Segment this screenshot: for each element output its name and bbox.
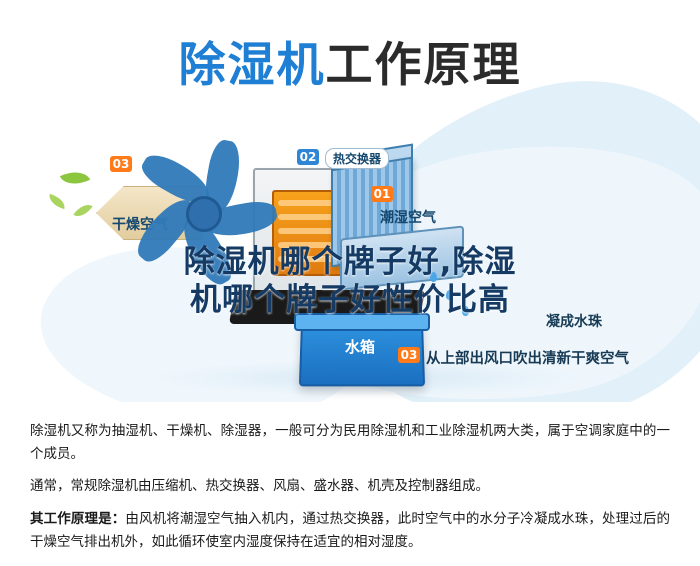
page-title: 除湿机工作原理 [0,26,700,95]
leaf-icon [47,194,67,209]
label-bottom-note: 从上部出风口吹出清新干爽空气 [426,347,629,368]
callout-badge-01: 01 [371,186,393,202]
label-heat-exchanger: 热交换器 [325,148,389,169]
paragraph-1: 除湿机又称为抽湿机、干燥机、除湿器，一般可分为民用除湿机和工业除湿机两大类，属于… [30,420,670,466]
paragraph-3-heading: 其工作原理是： [30,511,125,527]
hero-illustration: 除湿机工作原理 干燥空气 03 02 热交换器 [0,0,700,402]
overlay-line-1: 除湿机哪个牌子好,除湿 [0,244,700,282]
paragraph-3: 其工作原理是：由风机将潮湿空气抽入机内，通过热交换器，此时空气中的水分子冷凝成水… [30,508,670,554]
leaf-icon [73,200,92,221]
callout-badge-03-bottom: 03 [398,347,420,363]
label-humid-air: 潮湿空气 [380,207,436,227]
overlay-line-2: 机哪个牌子好性价比高 [0,282,700,320]
overlay-watermark: 除湿机哪个牌子好,除湿 机哪个牌子好性价比高 [0,244,700,320]
paragraph-3-text: 由风机将潮湿空气抽入机内，通过热交换器，此时空气中的水分子冷凝成水珠，处理过后的… [30,511,670,550]
description-block: 除湿机又称为抽湿机、干燥机、除湿器，一般可分为民用除湿机和工业除湿机两大类，属于… [0,402,700,566]
leaf-icon [60,165,90,190]
fan-hub-icon [186,196,222,232]
title-rest: 工作原理 [326,38,522,93]
page-root: 除湿机工作原理 干燥空气 03 02 热交换器 [0,0,700,566]
callout-badge-03-left: 03 [110,156,132,172]
callout-badge-02: 02 [297,149,319,165]
paragraph-2: 通常，常规除湿机由压缩机、热交换器、风扇、盛水器、机壳及控制器组成。 [30,475,670,498]
title-highlight: 除湿机 [179,38,326,93]
